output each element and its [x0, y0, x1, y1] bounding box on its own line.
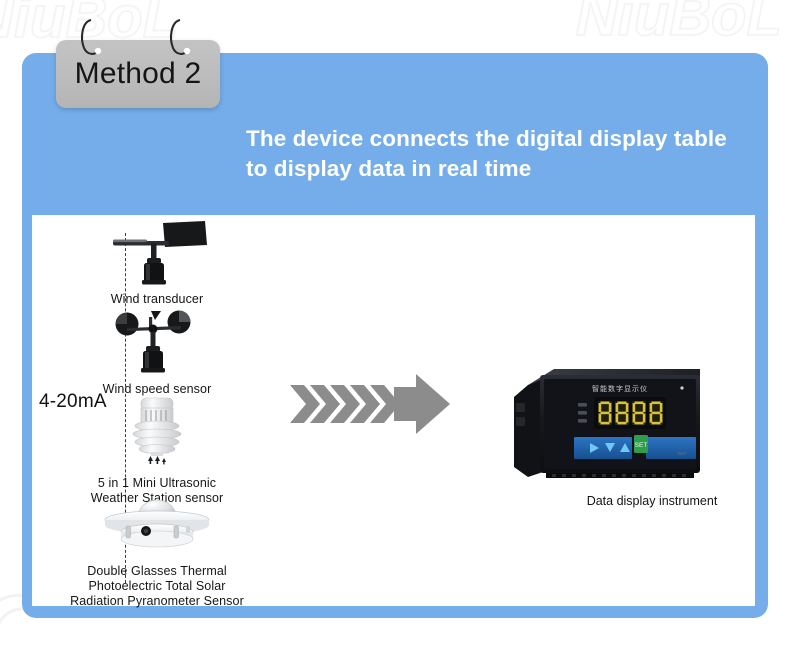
sensor-label-line1: Double Glasses Thermal	[52, 564, 262, 579]
instrument-logo-dot	[680, 386, 683, 389]
sensor-item-wind-transducer: Wind transducer	[52, 219, 262, 307]
pyranometer-icon	[82, 495, 232, 557]
right-arrow-with-chevrons-icon	[290, 373, 452, 435]
wind-vane-icon	[91, 219, 223, 285]
sensor-label-line2: Photoelectric Total Solar	[52, 579, 262, 594]
instrument-keypad-right	[646, 437, 696, 459]
instrument-model-text: XMT	[677, 451, 687, 456]
instrument-brand-text: 智能数字显示仪	[592, 384, 648, 393]
method-tag: Method 2	[56, 40, 220, 108]
sensor-label: Wind transducer	[52, 292, 262, 307]
page-title: The device connects the digital display …	[246, 124, 746, 183]
diagram-panel: 4-20mA Wind transducer	[32, 215, 755, 606]
sensor-label-line1: 5 in 1 Mini Ultrasonic	[52, 476, 262, 491]
sensor-label: Double Glasses Thermal Photoelectric Tot…	[52, 564, 262, 608]
watermark-top-right: NiuBoL	[576, 0, 782, 49]
sensor-item-weather-station: 5 in 1 Mini Ultrasonic Weather Station s…	[52, 393, 262, 506]
anemometer-icon	[91, 307, 223, 375]
sensor-item-pyranometer: Double Glasses Thermal Photoelectric Tot…	[52, 495, 262, 608]
ultrasonic-weather-station-icon	[91, 393, 223, 469]
data-display-instrument[interactable]: 智能数字显示仪	[510, 363, 706, 491]
instrument-key-set: SET	[634, 435, 648, 453]
method-tag-label: Method 2	[75, 57, 202, 91]
instrument-caption: Data display instrument	[532, 494, 772, 508]
sensor-item-wind-speed: Wind speed sensor	[52, 307, 262, 397]
svg-text:SET: SET	[635, 442, 648, 449]
instrument-bottom-fins	[546, 473, 694, 478]
sensor-label-line3: Radiation Pyranometer Sensor	[52, 594, 262, 609]
instrument-indicator-lamps	[578, 403, 587, 423]
